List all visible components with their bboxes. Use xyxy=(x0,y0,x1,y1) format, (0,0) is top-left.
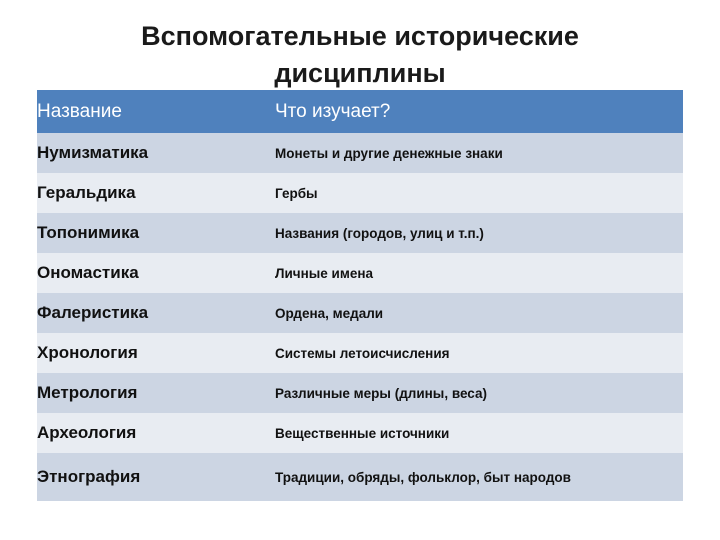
cell-discipline-name: Археология xyxy=(37,413,275,453)
cell-discipline-study: Традиции, обряды, фольклор, быт народов xyxy=(275,453,683,501)
table-row: Метрология Различные меры (длины, веса) xyxy=(37,373,683,413)
cell-discipline-name: Нумизматика xyxy=(37,133,275,173)
column-header-study: Что изучает? xyxy=(275,90,683,133)
table-row: Этнография Традиции, обряды, фольклор, б… xyxy=(37,453,683,501)
table-row: Топонимика Названия (городов, улиц и т.п… xyxy=(37,213,683,253)
table-row: Геральдика Гербы xyxy=(37,173,683,213)
cell-discipline-study: Названия (городов, улиц и т.п.) xyxy=(275,213,683,253)
cell-discipline-name: Ономастика xyxy=(37,253,275,293)
column-header-name: Название xyxy=(37,90,275,133)
cell-discipline-study: Различные меры (длины, веса) xyxy=(275,373,683,413)
cell-discipline-study: Личные имена xyxy=(275,253,683,293)
table-header-row: Название Что изучает? xyxy=(37,90,683,133)
table-header: Название Что изучает? xyxy=(37,90,683,133)
cell-discipline-study: Монеты и другие денежные знаки xyxy=(275,133,683,173)
disciplines-table: Название Что изучает? Нумизматика Монеты… xyxy=(37,90,683,501)
table-row: Фалеристика Ордена, медали xyxy=(37,293,683,333)
cell-discipline-study: Системы летоисчисления xyxy=(275,333,683,373)
cell-discipline-study: Ордена, медали xyxy=(275,293,683,333)
cell-discipline-name: Хронология xyxy=(37,333,275,373)
table-row: Хронология Системы летоисчисления xyxy=(37,333,683,373)
table-row: Ономастика Личные имена xyxy=(37,253,683,293)
table-row: Нумизматика Монеты и другие денежные зна… xyxy=(37,133,683,173)
cell-discipline-name: Фалеристика xyxy=(37,293,275,333)
cell-discipline-name: Геральдика xyxy=(37,173,275,213)
cell-discipline-study: Гербы xyxy=(275,173,683,213)
page-title: Вспомогательные исторические дисциплины xyxy=(60,18,660,92)
cell-discipline-name: Топонимика xyxy=(37,213,275,253)
slide-canvas: Вспомогательные исторические дисциплины … xyxy=(0,0,720,540)
table-body: Нумизматика Монеты и другие денежные зна… xyxy=(37,133,683,501)
cell-discipline-study: Вещественные источники xyxy=(275,413,683,453)
cell-discipline-name: Этнография xyxy=(37,453,275,501)
table-row: Археология Вещественные источники xyxy=(37,413,683,453)
cell-discipline-name: Метрология xyxy=(37,373,275,413)
